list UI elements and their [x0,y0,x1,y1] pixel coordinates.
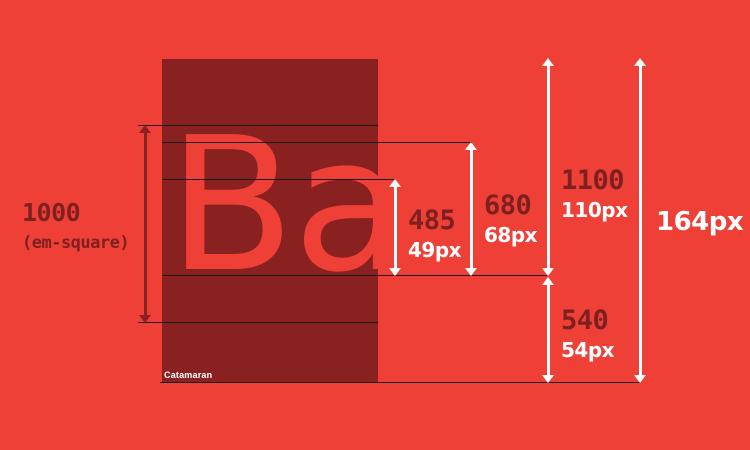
arrow-em-square [139,125,152,323]
arrowhead-down-icon [634,375,646,383]
descender-px: 54px [561,340,614,361]
label-ascender: 1100 110px [561,167,627,221]
arrow-descender [542,277,555,383]
em-square-label: 1000 (em-square) [22,198,129,253]
cap-height-px: 68px [484,225,537,246]
rule-baseline [162,275,548,276]
rule-cap-height [162,142,472,143]
ascender-px: 110px [561,200,627,221]
rule-descender [160,382,640,383]
label-x-height: 485 49px [408,207,461,261]
x-height-px: 49px [408,240,461,261]
arrowhead-down-icon [389,268,401,276]
arrow-x-height [389,179,402,276]
rule-em-bottom [138,322,378,323]
arrowhead-down-icon [139,315,151,323]
descender-units: 540 [561,307,614,335]
arrow-cap-height [465,142,478,276]
arrow-ascender [542,58,555,276]
cap-height-units: 680 [484,192,537,220]
em-square-note: (em-square) [22,233,129,253]
label-descender: 540 54px [561,307,614,361]
arrow-shaft [144,130,147,318]
arrow-shaft [547,282,550,378]
label-total-height: 164px [656,209,743,236]
arrow-shaft [394,184,397,271]
arrowhead-down-icon [465,268,477,276]
arrowhead-down-icon [542,268,554,276]
rule-x-height [162,179,395,180]
arrow-shaft [470,147,473,271]
font-name-label: Catamaran [164,370,212,380]
total-height-px: 164px [656,209,743,236]
x-height-units: 485 [408,207,461,235]
arrow-shaft [639,63,642,378]
ascender-units: 1100 [561,167,627,195]
arrowhead-down-icon [542,375,554,383]
rule-ascender [138,125,378,126]
label-cap-height: 680 68px [484,192,537,246]
arrow-shaft [547,63,550,271]
font-metrics-diagram: Ba Catamaran 1000 (em-square) 485 49px 6… [0,0,750,450]
arrow-total-height [634,58,647,383]
em-square-value: 1000 [22,198,129,227]
